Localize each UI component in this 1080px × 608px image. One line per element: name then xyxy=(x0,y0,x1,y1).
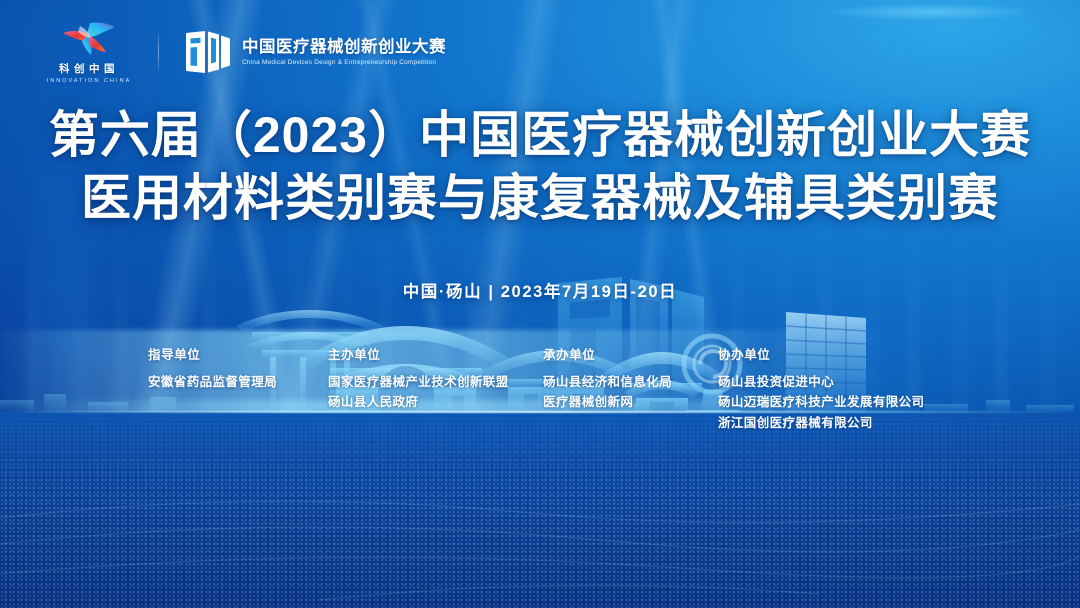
organizer-column-organizer: 承办单位 砀山县经济和信息化局 医疗器械创新网 xyxy=(543,344,718,433)
organizer-item: 浙江国创医疗器械有限公司 xyxy=(718,413,978,433)
page-title: 第六届（2023）中国医疗器械创新创业大赛 医用材料类别赛与康复器械及辅具类别赛 xyxy=(0,104,1080,230)
organizer-column-title: 指导单位 xyxy=(148,344,328,363)
innovation-china-cn: 科创中国 xyxy=(59,61,119,76)
title-line-2: 医用材料类别赛与康复器械及辅具类别赛 xyxy=(0,167,1080,230)
header-logos: 科创中国 INNOVATION CHINA 中国医疗器械创新创业大赛 China… xyxy=(46,20,446,84)
event-logo-cn: 中国医疗器械创新创业大赛 xyxy=(242,38,446,57)
poster-canvas: 科创中国 INNOVATION CHINA 中国医疗器械创新创业大赛 China… xyxy=(0,0,1080,608)
organizer-item: 医疗器械创新网 xyxy=(543,392,718,412)
event-logo-text: 中国医疗器械创新创业大赛 China Medical Devices Desig… xyxy=(242,38,446,67)
organizer-item: 砀山县人民政府 xyxy=(328,392,543,412)
logo-divider xyxy=(158,29,159,75)
ground-wave-lines xyxy=(0,482,1080,602)
organizer-item: 安徽省药品监督管理局 xyxy=(148,372,328,392)
open-door-chuang-logo-icon xyxy=(185,30,231,74)
organizer-item: 砀山迈瑞医疗科技产业发展有限公司 xyxy=(718,392,978,412)
dove-bird-logo-icon xyxy=(60,20,118,58)
innovation-china-logo: 科创中国 INNOVATION CHINA xyxy=(46,20,132,84)
organizer-column-title: 主办单位 xyxy=(328,344,543,363)
organizer-item: 国家医疗器械产业技术创新联盟 xyxy=(328,372,543,392)
organizer-item: 砀山县投资促进中心 xyxy=(718,372,978,392)
organizer-column-title: 承办单位 xyxy=(543,344,718,363)
organizers-section: 指导单位 安徽省药品监督管理局 主办单位 国家医疗器械产业技术创新联盟 砀山县人… xyxy=(148,344,978,433)
innovation-china-en: INNOVATION CHINA xyxy=(47,78,132,84)
event-logo: 中国医疗器械创新创业大赛 China Medical Devices Desig… xyxy=(185,30,446,74)
organizer-column-coorganizer: 协办单位 砀山县投资促进中心 砀山迈瑞医疗科技产业发展有限公司 浙江国创医疗器械… xyxy=(718,344,978,433)
event-logo-en: China Medical Devices Design & Entrepren… xyxy=(242,59,446,66)
event-date-location: 中国·砀山 | 2023年7月19日-20日 xyxy=(0,278,1080,302)
organizer-column-host: 主办单位 国家医疗器械产业技术创新联盟 砀山县人民政府 xyxy=(328,344,543,433)
title-line-1: 第六届（2023）中国医疗器械创新创业大赛 xyxy=(0,104,1080,167)
organizer-column-title: 协办单位 xyxy=(718,344,978,363)
organizer-column-guidance: 指导单位 安徽省药品监督管理局 xyxy=(148,344,328,433)
organizer-item: 砀山县经济和信息化局 xyxy=(543,372,718,392)
